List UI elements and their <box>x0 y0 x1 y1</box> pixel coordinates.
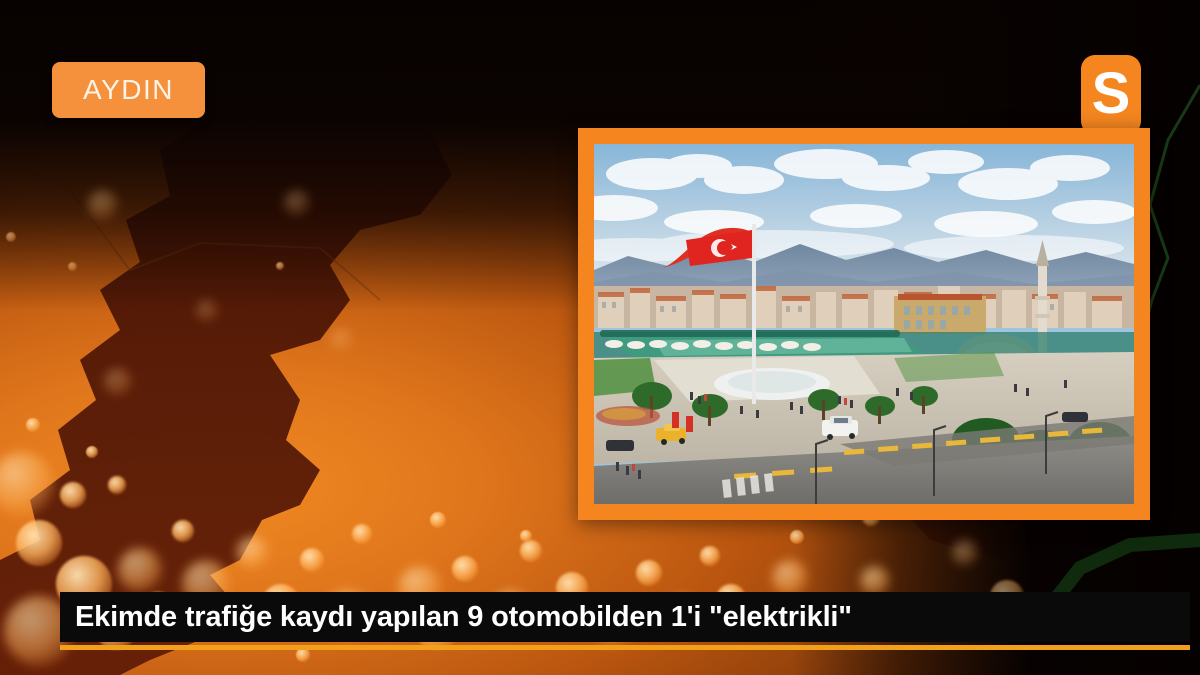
photo-card <box>578 128 1150 520</box>
news-card: AYDIN S <box>0 0 1200 675</box>
logo-letter: S <box>1092 65 1131 123</box>
caption-text: Ekimde trafiğe kaydı yapılan 9 otomobild… <box>60 601 852 634</box>
photo-image <box>594 144 1134 504</box>
caption-underline <box>60 645 1190 650</box>
caption-bar: Ekimde trafiğe kaydı yapılan 9 otomobild… <box>60 592 1190 642</box>
city-badge[interactable]: AYDIN <box>52 62 205 118</box>
city-badge-label: AYDIN <box>83 74 174 106</box>
brand-logo-s-icon[interactable]: S <box>1081 55 1141 135</box>
